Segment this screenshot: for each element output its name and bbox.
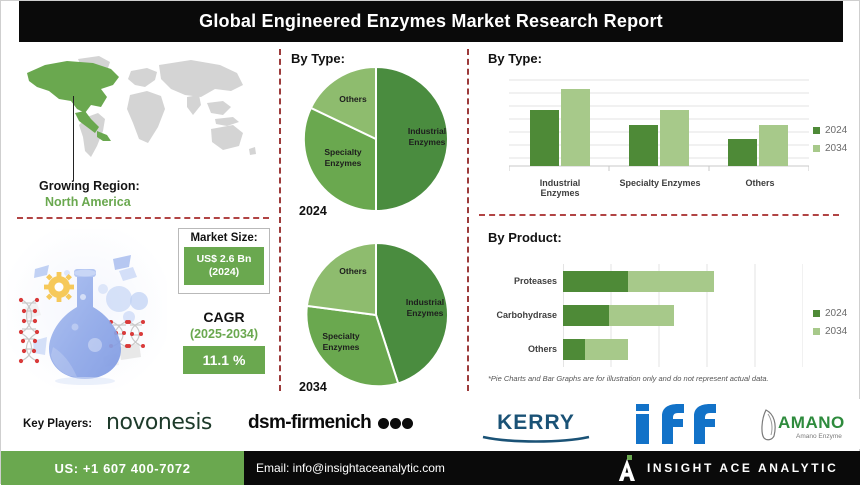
pie-2034-year: 2034 — [299, 380, 327, 394]
divider-horizontal-left — [17, 217, 269, 219]
legend-item-2024: 2024 — [813, 125, 847, 136]
growing-region-label: Growing Region: — [39, 179, 239, 193]
cagr-label: CAGR — [178, 309, 270, 325]
market-size-year: (2024) — [209, 266, 239, 279]
cagr-period: (2025-2034) — [178, 327, 270, 341]
product-section-heading: By Product: — [488, 230, 562, 245]
page-title: Global Engineered Enzymes Market Researc… — [199, 11, 663, 32]
divider-vertical-left — [279, 49, 281, 391]
market-size-label: Market Size: — [190, 232, 257, 244]
legend-swatch-2024-product — [813, 310, 820, 317]
footer-phone-block[interactable]: US: +1 607 400-7072 — [1, 451, 244, 485]
gear-icon — [44, 272, 74, 302]
market-size-box: Market Size: US$ 2.6 Bn (2024) — [178, 228, 270, 294]
legend-swatch-2034 — [813, 145, 820, 152]
bar-cat-others: Others — [719, 178, 801, 188]
legend-swatch-2024 — [813, 127, 820, 134]
market-size-chip: US$ 2.6 Bn (2024) — [184, 247, 264, 285]
footer-brand-block: INSIGHT ACE ANALYTIC — [616, 451, 838, 485]
product-cat-carbohydrase: Carbohydrase — [483, 310, 557, 320]
legend-swatch-2034-product — [813, 328, 820, 335]
bar-chart-by-product — [563, 264, 803, 367]
pie-chart-2034 — [301, 240, 451, 390]
infographic-page: Global Engineered Enzymes Market Researc… — [0, 0, 860, 484]
legend-label-2034: 2034 — [825, 143, 847, 154]
logo-novonesis: novonesis — [106, 410, 212, 435]
legend-item-2034-product: 2034 — [813, 326, 847, 337]
key-players-label: Key Players: — [23, 418, 92, 430]
legend-label-2024: 2024 — [825, 125, 847, 136]
world-map — [15, 51, 265, 166]
chart-footnote: *Pie Charts and Bar Graphs are for illus… — [488, 374, 818, 383]
growing-region-value: North America — [45, 195, 245, 209]
bar-cat-specialty: Specialty Enzymes — [619, 178, 701, 188]
divider-horizontal-right — [479, 214, 839, 216]
bar-chart-by-type — [509, 76, 809, 171]
logo-iff — [634, 404, 726, 446]
bar-chart-legend: 2024 2034 — [813, 125, 847, 161]
kerry-swoosh — [481, 435, 591, 444]
logo-kerry: KERRY — [481, 411, 591, 444]
logo-dsm-firmenich: dsm-firmenich — [248, 412, 413, 434]
footer-email-block[interactable]: Email: info@insightaceanalytic.com — [256, 451, 445, 485]
legend-item-2034: 2034 — [813, 143, 847, 154]
legend-label-2024-product: 2024 — [825, 308, 847, 319]
laboratory-flask-illustration — [7, 229, 167, 389]
report-title-bar: Global Engineered Enzymes Market Researc… — [19, 1, 843, 42]
footer-brand-text: INSIGHT ACE ANALYTIC — [647, 461, 838, 475]
logo-novonesis-text: novonesis — [106, 410, 212, 435]
map-leader-line — [73, 96, 74, 181]
bar-section-heading: By Type: — [488, 51, 542, 66]
product-cat-others: Others — [483, 344, 557, 354]
logo-dsm-text: dsm-firmenich — [248, 412, 371, 434]
footer-phone: US: +1 607 400-7072 — [54, 461, 190, 476]
insight-ace-logo-mark — [616, 455, 638, 481]
pie-chart-2024 — [301, 64, 451, 214]
dsm-dots-mark — [377, 418, 413, 429]
logo-amano-text: AMANO — [778, 413, 845, 432]
pie-2024-year: 2024 — [299, 204, 327, 218]
logo-amano: AMANO Amano Enzyme — [758, 406, 854, 444]
product-cat-proteases: Proteases — [483, 276, 557, 286]
logo-kerry-text: KERRY — [497, 411, 575, 435]
product-chart-legend: 2024 2034 — [813, 308, 847, 344]
footer-email: Email: info@insightaceanalytic.com — [256, 461, 445, 475]
cagr-value-chip: 11.1 % — [183, 346, 265, 374]
market-size-value: US$ 2.6 Bn — [197, 253, 252, 266]
legend-label-2034-product: 2034 — [825, 326, 847, 337]
bar-cat-industrial: Industrial Enzymes — [519, 178, 601, 198]
legend-item-2024-product: 2024 — [813, 308, 847, 319]
divider-vertical-right — [467, 49, 469, 391]
logo-amano-sub: Amano Enzyme — [796, 433, 842, 440]
